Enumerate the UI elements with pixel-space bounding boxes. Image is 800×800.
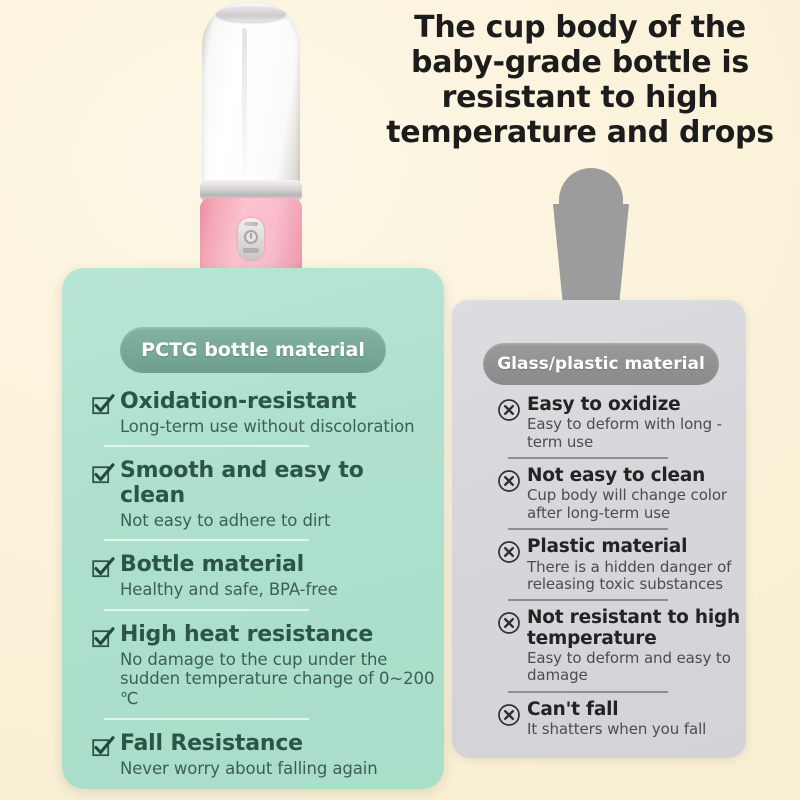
headline-line-3: resistant to high	[380, 80, 780, 115]
list-item: High heat resistance No damage to the cu…	[92, 623, 436, 709]
list-item-desc: Long-term use without discoloration	[120, 417, 436, 437]
list-item-desc: Healthy and safe, BPA-free	[120, 580, 436, 600]
list-item: Plastic material There is a hidden dange…	[497, 537, 741, 593]
list-item: Not easy to clean Cup body will change c…	[497, 466, 741, 522]
divider	[104, 609, 309, 611]
x-circle-icon	[497, 608, 527, 684]
list-item-desc: Easy to deform with long -term use	[527, 416, 741, 451]
list-item-desc: Never worry about falling again	[120, 759, 436, 779]
checkbox-checked-icon	[92, 732, 120, 778]
headline-line-4: temperature and drops	[380, 115, 780, 150]
list-item-title: Not resistant to high temperature	[527, 608, 741, 649]
badge-glass-plastic-material: Glass/plastic material	[483, 343, 719, 385]
list-item-title: Can't fall	[527, 700, 741, 720]
checkbox-checked-icon	[92, 553, 120, 599]
power-button-icon	[244, 230, 258, 244]
divider	[508, 599, 668, 601]
list-item: Fall Resistance Never worry about fallin…	[92, 732, 436, 778]
divider	[508, 528, 668, 530]
list-item-title: Oxidation-resistant	[120, 390, 436, 415]
blender-lid-rim	[216, 6, 286, 22]
divider	[104, 718, 309, 720]
headline-line-2: baby-grade bottle is	[380, 45, 780, 80]
list-item-desc: Cup body will change color after long-te…	[527, 487, 741, 522]
x-circle-icon	[497, 466, 527, 522]
list-item-title: High heat resistance	[120, 623, 436, 648]
list-item: Oxidation-resistant Long-term use withou…	[92, 390, 436, 436]
badge-pctg-bottle-material: PCTG bottle material	[120, 327, 386, 373]
headline-line-1: The cup body of the	[380, 10, 780, 45]
x-circle-icon	[497, 395, 527, 451]
checkbox-checked-icon	[92, 459, 120, 530]
blender-cup-highlight	[242, 28, 247, 178]
divider	[508, 691, 668, 693]
list-item-title: Fall Resistance	[120, 732, 436, 757]
blender-usb-slot	[243, 248, 259, 253]
list-item-title: Not easy to clean	[527, 466, 741, 486]
list-item: Smooth and easy to clean Not easy to adh…	[92, 459, 436, 530]
list-item: Easy to oxidize Easy to deform with long…	[497, 395, 741, 451]
blender-indicator-icon	[244, 222, 258, 226]
list-item-desc: Easy to deform and easy to damage	[527, 650, 741, 685]
product-image-blender	[190, 2, 312, 288]
checkbox-checked-icon	[92, 623, 120, 709]
list-item-title: Plastic material	[527, 537, 741, 557]
list-item: Not resistant to high temperature Easy t…	[497, 608, 741, 684]
list-item: Bottle material Healthy and safe, BPA-fr…	[92, 553, 436, 599]
list-item-desc: There is a hidden danger of releasing to…	[527, 559, 741, 594]
blender-cup	[202, 2, 300, 188]
list-item-desc: Not easy to adhere to dirt	[120, 511, 436, 531]
divider	[104, 539, 309, 541]
divider	[508, 457, 668, 459]
divider	[104, 445, 309, 447]
list-item-desc: It shatters when you fall	[527, 721, 741, 738]
list-item-desc: No damage to the cup under the sudden te…	[120, 650, 436, 709]
x-circle-icon	[497, 537, 527, 593]
list-item-title: Bottle material	[120, 553, 436, 578]
cons-list: Easy to oxidize Easy to deform with long…	[497, 395, 741, 741]
x-circle-icon	[497, 700, 527, 739]
list-item-title: Smooth and easy to clean	[120, 459, 436, 508]
list-item: Can't fall It shatters when you fall	[497, 700, 741, 739]
pros-list: Oxidation-resistant Long-term use withou…	[92, 390, 436, 782]
list-item-title: Easy to oxidize	[527, 395, 741, 415]
infographic-canvas: The cup body of the baby-grade bottle is…	[0, 0, 800, 800]
page-title: The cup body of the baby-grade bottle is…	[380, 10, 780, 150]
checkbox-checked-icon	[92, 390, 120, 436]
